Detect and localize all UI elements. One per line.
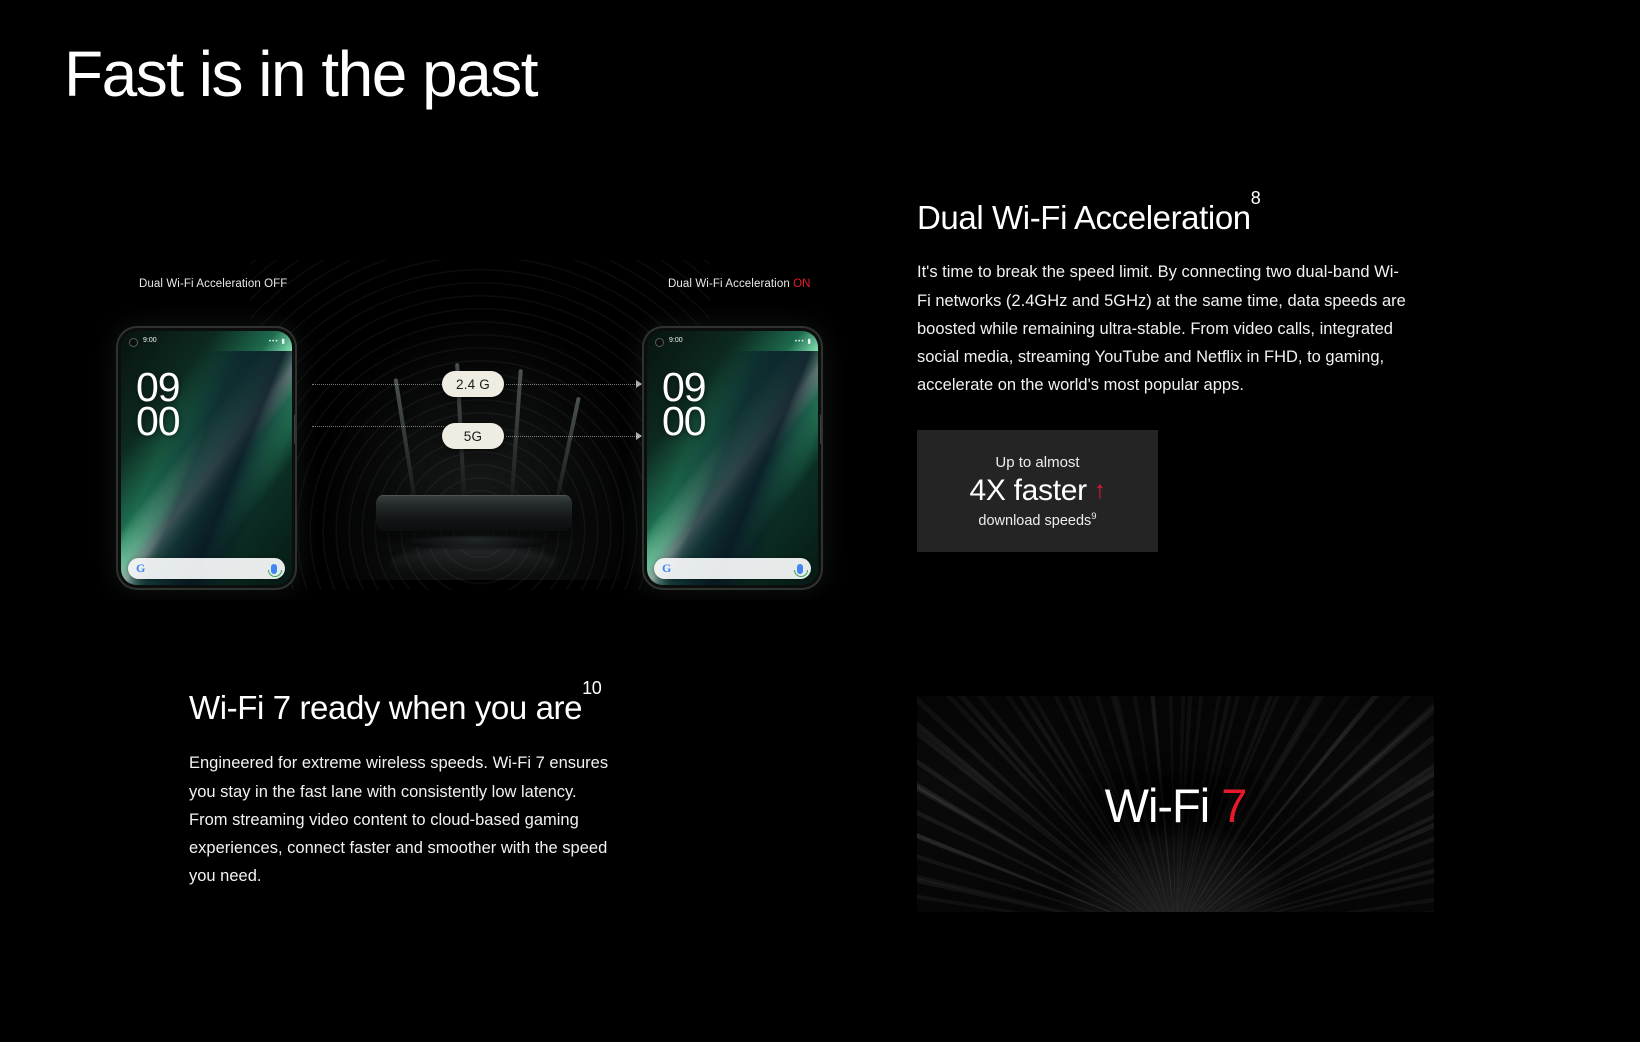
page-headline: Fast is in the past [64,42,537,106]
stat-card-value-row: 4X faster ↑ [969,474,1105,508]
marketing-page: Fast is in the past Dual Wi-Fi Accelerat… [0,0,1640,1042]
wifi7-heading: Wi-Fi 7 ready when you are10 [189,690,719,726]
stat-card-top-label: Up to almost [995,454,1079,471]
band-pill-2-4g: 2.4 G [442,371,504,397]
router-antenna [556,397,581,496]
phone-right: 9:00 ••• ▮ 0900 G [644,328,821,588]
phone-left-statusbar-time: 9:00 [143,337,157,344]
mic-icon [271,564,277,574]
connector-line [312,426,444,427]
phone-right-search-widget: G [654,558,811,579]
router-antenna [510,369,523,495]
label-acceleration-on-prefix: Dual Wi-Fi Acceleration [668,278,793,290]
label-acceleration-on: Dual Wi-Fi Acceleration ON [668,278,811,290]
connector-arrow-icon [636,432,642,440]
wifi7-image-label: Wi-Fi 7 [917,778,1434,833]
dual-wifi-body: It's time to break the speed limit. By c… [917,258,1409,399]
footnote-marker-9: 9 [1091,511,1096,522]
stat-card-bottom-label: download speeds9 [978,511,1096,529]
wifi7-image-label-prefix: Wi-Fi [1105,779,1222,832]
phone-right-side-button [820,414,821,444]
hero-product-image: Dual Wi-Fi Acceleration OFF Dual Wi-Fi A… [60,240,880,600]
stat-card-download-speed: Up to almost 4X faster ↑ download speeds… [917,430,1158,552]
router-antenna [394,378,416,495]
google-icon: G [662,561,671,576]
footnote-marker-8: 8 [1251,188,1261,208]
wifi7-speed-tunnel-image: Wi-Fi 7 [917,696,1434,912]
router-body [376,495,572,531]
label-acceleration-off: Dual Wi-Fi Acceleration OFF [139,278,287,290]
phone-right-statusbar-time: 9:00 [669,337,683,344]
wifi7-heading-text: Wi-Fi 7 ready when you are [189,689,582,726]
front-camera-icon [656,339,663,346]
wifi7-section: Wi-Fi 7 ready when you are10 Engineered … [189,690,719,890]
dual-wifi-section: Dual Wi-Fi Acceleration8 It's time to br… [917,200,1417,552]
mic-icon [797,564,803,574]
phone-left-statusbar-icons: ••• ▮ [269,337,286,345]
phone-left-lockscreen-clock: 0900 [136,370,180,439]
stat-card-bottom-text: download speeds [978,513,1091,529]
connector-line [312,384,444,385]
footnote-marker-10: 10 [582,678,601,698]
phone-left-side-button [294,414,295,444]
google-icon: G [136,561,145,576]
wifi7-image-label-accent: 7 [1221,779,1246,832]
label-acceleration-on-state: ON [793,278,810,290]
dual-wifi-heading-text: Dual Wi-Fi Acceleration [917,199,1251,236]
phone-left: 9:00 ••• ▮ 0900 G [118,328,295,588]
router-reflection [390,546,558,580]
wifi7-body: Engineered for extreme wireless speeds. … [189,749,619,890]
stat-card-value: 4X faster [969,474,1086,508]
phone-right-statusbar-icons: ••• ▮ [795,337,812,345]
connector-line [506,384,641,385]
band-pill-5g: 5G [442,423,504,449]
up-arrow-icon: ↑ [1094,479,1106,503]
phone-left-search-widget: G [128,558,285,579]
connector-line [506,436,641,437]
connector-arrow-icon [636,380,642,388]
front-camera-icon [130,339,137,346]
dual-wifi-heading: Dual Wi-Fi Acceleration8 [917,200,1417,236]
phone-right-lockscreen-clock: 0900 [662,370,706,439]
